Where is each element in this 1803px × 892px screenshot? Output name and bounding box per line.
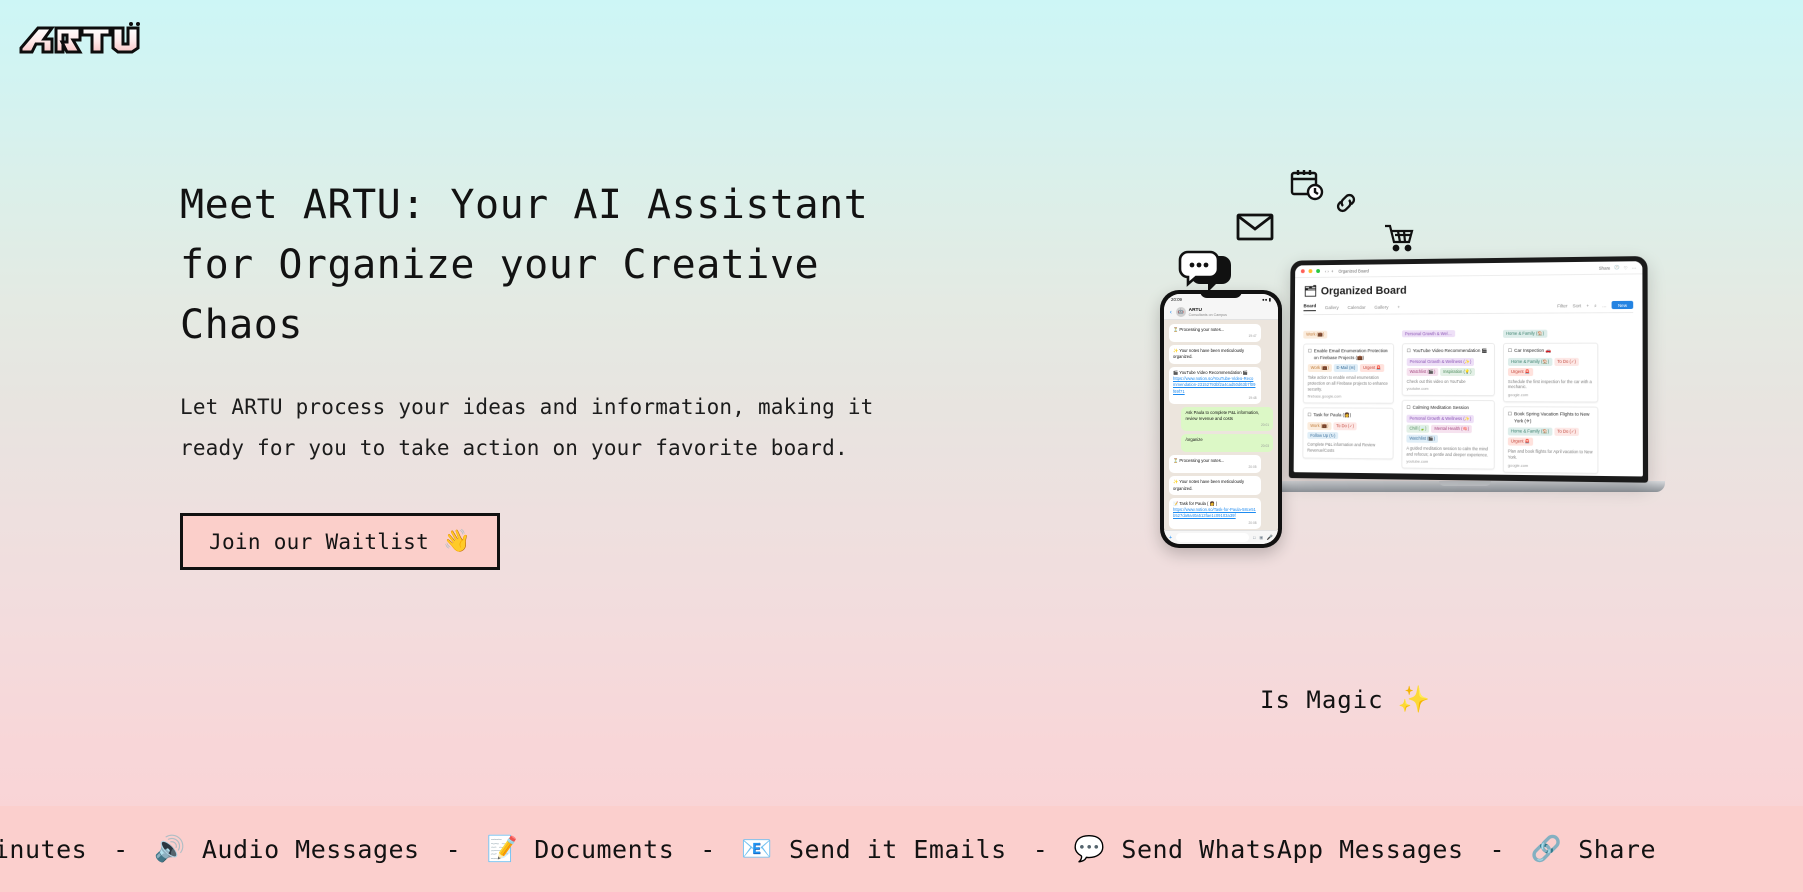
more-icon[interactable]: ··· bbox=[1632, 265, 1636, 270]
window-minimize-dot[interactable] bbox=[1309, 269, 1313, 273]
waving-hand-icon: 👋 bbox=[443, 529, 471, 554]
microphone-icon[interactable]: 🎤 bbox=[1267, 535, 1273, 541]
marquee-separator: - bbox=[446, 835, 461, 864]
kanban-card[interactable]: ☐YouTube Video Recommendation 🎬 Personal… bbox=[1402, 343, 1495, 397]
sort-button[interactable]: Sort bbox=[1573, 303, 1582, 308]
card-title: ☐Book Spring Vacation Flights to New Yor… bbox=[1508, 411, 1593, 425]
marquee-label: Send it Emails bbox=[789, 835, 1007, 864]
marquee-separator: - bbox=[113, 835, 128, 864]
card-title: ☐YouTube Video Recommendation 🎬 bbox=[1407, 348, 1490, 355]
card-tag: Urgent 🚨 bbox=[1508, 368, 1533, 376]
card-tags: Home & Family (🏠) To Do (✓) Urgent 🚨 bbox=[1508, 357, 1593, 375]
board-icon: 🗂 bbox=[1304, 285, 1317, 298]
card-tag: Urgent 🚨 bbox=[1360, 364, 1384, 372]
chat-input-bar: + ☐ ▣ 🎤 bbox=[1164, 530, 1278, 544]
calendar-clock-icon bbox=[1290, 168, 1324, 202]
artu-logo-mark bbox=[18, 18, 148, 64]
card-tags: Personal Growth & Wellness (✨) Chill (🍃)… bbox=[1406, 415, 1489, 444]
chat-message: /organize20:03 bbox=[1181, 434, 1273, 452]
window-maximize-dot[interactable] bbox=[1316, 269, 1320, 273]
kanban-columns: Work (💼) ☐Enable Email Enumeration Prote… bbox=[1302, 319, 1633, 474]
message-time: 20:05 bbox=[1173, 465, 1257, 470]
add-button[interactable]: + bbox=[1586, 303, 1589, 308]
kanban-card[interactable]: ☐Enable Email Enumeration Protection on … bbox=[1303, 343, 1394, 404]
hero-subcopy: Let ARTU process your ideas and informat… bbox=[180, 387, 940, 469]
window-close-dot[interactable] bbox=[1301, 269, 1305, 273]
marquee-separator: - bbox=[700, 835, 715, 864]
kanban-card[interactable]: ☐Calming Meditation Session Personal Gro… bbox=[1401, 400, 1495, 470]
checkbox-icon[interactable]: ☐ bbox=[1407, 405, 1411, 412]
camera-icon[interactable]: ▣ bbox=[1260, 535, 1263, 541]
card-description: Take action to enable email enumeration … bbox=[1308, 375, 1389, 392]
laptop-screen: ‹ › + Organized Board Share 🕐 ♡ ··· 🗂 Or… bbox=[1289, 256, 1648, 483]
phone-mockup: 20:09 ●● ▮ ‹ 🤖 ARTU Consultants on Campu… bbox=[1160, 290, 1282, 548]
card-link[interactable]: youtube.com bbox=[1407, 386, 1490, 391]
new-item-button[interactable]: New bbox=[1612, 301, 1633, 309]
tab-gallery-2[interactable]: Gallery bbox=[1374, 304, 1388, 309]
column-title: Work (💼) bbox=[1303, 331, 1327, 339]
kanban-card[interactable]: ☐Car Inspection 🚗 Home & Family (🏠) To D… bbox=[1503, 343, 1598, 403]
card-tag: To Do (✓) bbox=[1554, 358, 1579, 366]
memo-icon: 📝 bbox=[487, 834, 519, 864]
link-chain-icon: 🔗 bbox=[1531, 834, 1563, 864]
card-tag: Mental Health (🧠) bbox=[1431, 425, 1472, 433]
card-tag: Home & Family (🏠) bbox=[1508, 428, 1552, 436]
join-waitlist-label: Join our Waitlist bbox=[209, 530, 429, 554]
is-magic-label: Is Magic bbox=[1260, 686, 1384, 714]
card-description: A guided meditation session to calm the … bbox=[1406, 446, 1489, 458]
marquee-item[interactable]: 📧 Send it Emails bbox=[741, 834, 1006, 864]
kanban-card[interactable]: ☐Task for Paula (👩) Work (💼) To Do (✓) F… bbox=[1302, 408, 1393, 459]
add-attachment-icon[interactable]: + bbox=[1169, 535, 1172, 541]
marquee-item[interactable]: eting Minutes bbox=[0, 835, 87, 864]
marquee-label: eting Minutes bbox=[0, 835, 87, 864]
back-icon[interactable]: ‹ bbox=[1169, 309, 1173, 316]
card-tag: Personal Growth & Wellness (✨) bbox=[1407, 358, 1475, 366]
board-view-tabs: Board Gallery Calendar Gallery + Filter … bbox=[1303, 301, 1633, 315]
tab-add[interactable]: + bbox=[1397, 304, 1400, 309]
marquee-separator: - bbox=[1033, 835, 1048, 864]
checkbox-icon[interactable]: ☐ bbox=[1508, 411, 1512, 424]
message-time: 19:47 bbox=[1173, 334, 1257, 339]
chat-messages: ⏳ Processing your notes...19:47 ✨ Your n… bbox=[1164, 320, 1278, 530]
filter-button[interactable]: Filter bbox=[1557, 303, 1567, 308]
card-title: ☐Task for Paula (👩) bbox=[1307, 413, 1388, 420]
logo-umlaut-dot bbox=[129, 22, 133, 26]
checkbox-icon[interactable]: ☐ bbox=[1508, 348, 1512, 355]
share-label[interactable]: Share bbox=[1599, 265, 1610, 270]
board-toolbar: Filter Sort + ⌕ … New bbox=[1557, 301, 1633, 310]
page-title: Meet ARTU: Your AI Assistant for Organiz… bbox=[180, 175, 940, 355]
back-forward-controls[interactable]: ‹ › + bbox=[1324, 268, 1335, 273]
card-tag: Work (💼) bbox=[1307, 422, 1331, 430]
column-title: Home & Family (🏠) bbox=[1503, 330, 1547, 338]
laptop-mockup: ‹ › + Organized Board Share 🕐 ♡ ··· 🗂 Or… bbox=[1285, 258, 1645, 492]
card-title: ☐Calming Meditation Session bbox=[1407, 405, 1490, 412]
hero-section: Meet ARTU: Your AI Assistant for Organiz… bbox=[180, 175, 940, 570]
card-tag: Home & Family (🏠) bbox=[1508, 358, 1552, 366]
shopping-cart-icon bbox=[1384, 224, 1414, 252]
marquee-separator: - bbox=[1490, 835, 1505, 864]
sticker-icon[interactable]: ☐ bbox=[1253, 535, 1256, 541]
status-time: 20:09 bbox=[1171, 297, 1182, 302]
checkbox-icon[interactable]: ☐ bbox=[1307, 413, 1311, 420]
marquee-label: Share bbox=[1578, 835, 1656, 864]
message-time: 20:03 bbox=[1185, 444, 1269, 449]
is-magic-tagline: Is Magic ✨ bbox=[1260, 685, 1431, 715]
chat-message: ✨ Your notes have been meticulously orga… bbox=[1169, 476, 1261, 495]
tab-calendar[interactable]: Calendar bbox=[1348, 304, 1366, 309]
card-tag: To Do (✓) bbox=[1333, 422, 1357, 430]
card-description: Schedule the first inspection for the ca… bbox=[1508, 379, 1593, 391]
marquee-label: Audio Messages bbox=[202, 835, 420, 864]
phone-notch bbox=[1200, 290, 1242, 298]
chat-message: 📝 Task for Paula ( 👩 ) https://www.notio… bbox=[1169, 498, 1261, 529]
message-input[interactable] bbox=[1176, 533, 1249, 542]
card-link[interactable]: google.com bbox=[1508, 463, 1593, 469]
chat-message: Ask Paula to complete P&L information, r… bbox=[1181, 407, 1273, 431]
marquee-item[interactable]: 🔗 Share bbox=[1531, 834, 1656, 864]
chat-message: 🎬 YouTube Video Recommendation 🎬 https:/… bbox=[1169, 367, 1261, 404]
card-link[interactable]: youtube.com bbox=[1406, 459, 1489, 465]
chat-message: ✨ Your notes have been meticulously orga… bbox=[1169, 345, 1261, 364]
board-title: 🗂 Organized Board bbox=[1304, 282, 1634, 298]
card-tags: Personal Growth & Wellness (✨) Watchlist… bbox=[1407, 358, 1490, 376]
card-tag: Follow Up (↻) bbox=[1307, 432, 1338, 439]
card-tag: Watchlist (🎬) bbox=[1407, 368, 1439, 376]
message-time: 20:01 bbox=[1185, 423, 1269, 428]
card-title: ☐Enable Email Enumeration Protection on … bbox=[1308, 348, 1389, 361]
card-tags: Work (💼) To Do (✓) Follow Up (↻) bbox=[1307, 422, 1389, 439]
sparkles-icon: ✨ bbox=[1398, 685, 1431, 715]
email-icon: 📧 bbox=[741, 834, 773, 864]
chat-message: ⏳ Processing your notes...19:47 bbox=[1169, 324, 1261, 342]
link-icon bbox=[1333, 190, 1359, 216]
more-options-icon[interactable]: … bbox=[1602, 303, 1607, 308]
speaker-icon: 🔊 bbox=[154, 834, 186, 864]
feature-marquee: eting Minutes - 🔊 Audio Messages - 📝 Doc… bbox=[0, 806, 1803, 892]
kanban-card[interactable]: ☐Book Spring Vacation Flights to New Yor… bbox=[1503, 406, 1599, 473]
message-time: 20:08 bbox=[1173, 521, 1257, 526]
device-mockup-cluster: ‹ › + Organized Board Share 🕐 ♡ ··· 🗂 Or… bbox=[1160, 260, 1680, 590]
card-link[interactable]: google.com bbox=[1508, 392, 1593, 397]
card-tags: Home & Family (🏠) To Do (✓) Urgent 🚨 bbox=[1508, 428, 1593, 447]
history-icon[interactable]: 🕐 bbox=[1614, 264, 1619, 270]
marquee-label: Documents bbox=[534, 835, 674, 864]
join-waitlist-button[interactable]: Join our Waitlist 👋 bbox=[180, 513, 500, 570]
tab-board[interactable]: Board bbox=[1303, 303, 1316, 311]
kanban-column: Home & Family (🏠) ☐Car Inspection 🚗 Home… bbox=[1503, 319, 1599, 473]
card-link[interactable]: firebase.google.com bbox=[1308, 394, 1389, 399]
message-link[interactable]: https://www.notion.so/YouTube-Video-Reco… bbox=[1173, 376, 1255, 394]
card-tag: Work (💼) bbox=[1308, 364, 1332, 372]
status-indicators: ●● ▮ bbox=[1262, 297, 1271, 303]
favorite-icon[interactable]: ♡ bbox=[1624, 265, 1628, 270]
card-description: Plan and book flights for April vacation… bbox=[1508, 449, 1593, 461]
card-tag: Personal Growth & Wellness (✨) bbox=[1406, 415, 1474, 423]
checkbox-icon[interactable]: ☐ bbox=[1308, 348, 1312, 361]
card-description: Complete P&L information and Review Reve… bbox=[1307, 442, 1389, 454]
message-time: 19:48 bbox=[1173, 396, 1257, 401]
envelope-icon bbox=[1236, 212, 1274, 242]
card-title: ☐Car Inspection 🚗 bbox=[1508, 348, 1593, 355]
artu-logo[interactable] bbox=[18, 18, 148, 64]
card-description: Check out this video on YouTube bbox=[1407, 379, 1490, 385]
checkbox-icon[interactable]: ☐ bbox=[1407, 348, 1411, 355]
marquee-track: eting Minutes - 🔊 Audio Messages - 📝 Doc… bbox=[0, 834, 1656, 864]
kanban-column: Work (💼) ☐Enable Email Enumeration Prote… bbox=[1302, 320, 1394, 471]
marquee-item[interactable]: 🔊 Audio Messages bbox=[154, 834, 419, 864]
card-tag: Chill (🍃) bbox=[1406, 425, 1429, 433]
browser-tab-title[interactable]: Organized Board bbox=[1338, 268, 1369, 273]
column-title: Personal Growth & Wel… bbox=[1402, 330, 1455, 337]
card-tag: Inspiration (💡) bbox=[1440, 368, 1474, 376]
kanban-column: Personal Growth & Wel… ☐YouTube Video Re… bbox=[1401, 320, 1495, 473]
marquee-label: Send WhatsApp Messages bbox=[1121, 835, 1463, 864]
speech-balloon-icon: 💬 bbox=[1074, 834, 1106, 864]
contact-status: Consultants on Campus bbox=[1189, 313, 1227, 317]
marquee-item[interactable]: 📝 Documents bbox=[487, 834, 675, 864]
card-tag: Urgent 🚨 bbox=[1508, 438, 1533, 446]
message-link[interactable]: https://www.notion.so/Task-for-Paula-58c… bbox=[1173, 507, 1256, 518]
laptop-base bbox=[1265, 481, 1665, 492]
card-tags: Work (💼) E-Mail (✉) Urgent 🚨 bbox=[1308, 364, 1389, 372]
card-tag: Watchlist (🎬) bbox=[1406, 435, 1438, 443]
card-tag: E-Mail (✉) bbox=[1334, 364, 1359, 372]
marquee-item[interactable]: 💬 Send WhatsApp Messages bbox=[1074, 834, 1464, 864]
chat-message: ⏳ Processing your notes...20:05 bbox=[1169, 455, 1261, 473]
search-icon[interactable]: ⌕ bbox=[1594, 303, 1597, 308]
avatar[interactable]: 🤖 bbox=[1176, 307, 1186, 317]
tab-gallery-1[interactable]: Gallery bbox=[1325, 305, 1339, 310]
card-tag: To Do (✓) bbox=[1554, 428, 1579, 436]
chat-header: ‹ 🤖 ARTU Consultants on Campus bbox=[1164, 305, 1278, 320]
